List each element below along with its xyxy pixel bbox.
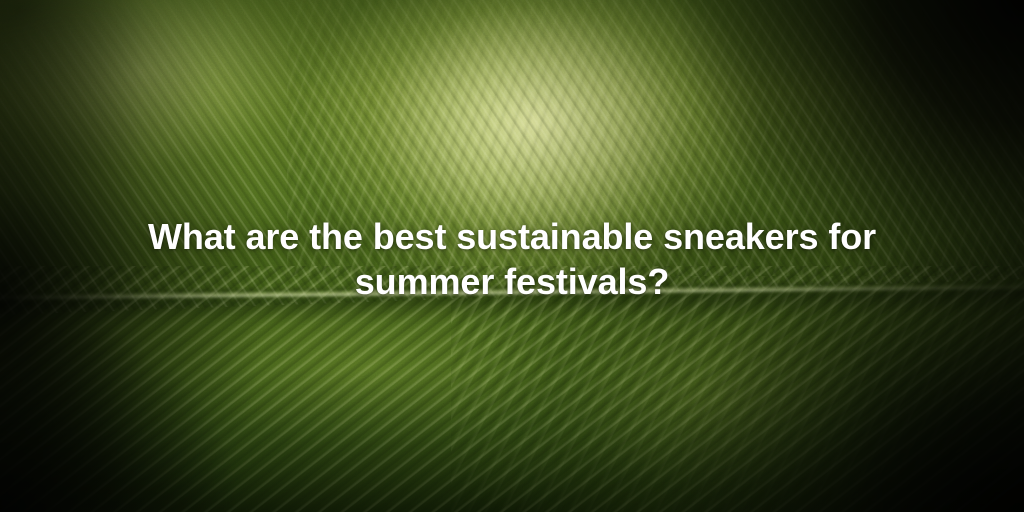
leaf-headline-banner: What are the best sustainable sneakers f… (0, 0, 1024, 512)
edge-vignette (0, 0, 1024, 512)
